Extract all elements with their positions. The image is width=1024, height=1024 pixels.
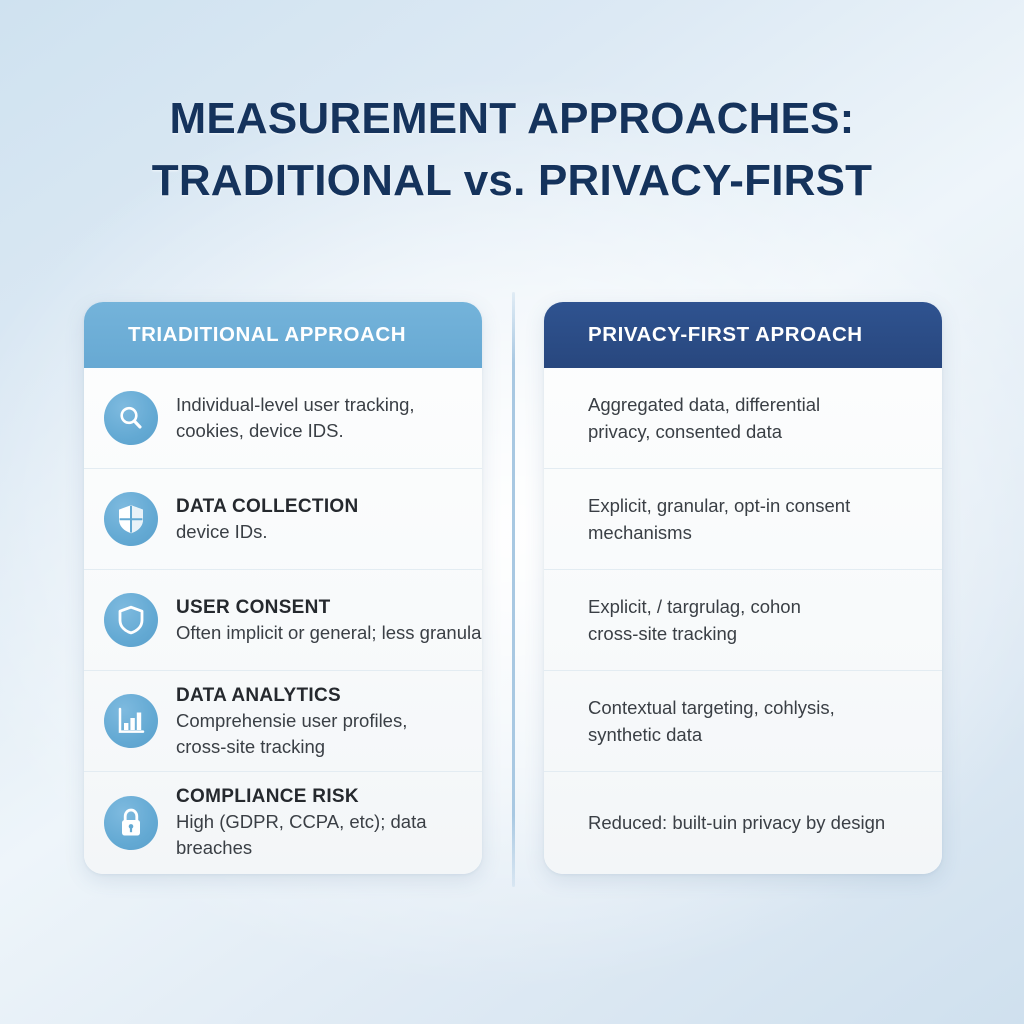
row-title: COMPLIANCE RISK [176, 784, 481, 809]
row-description: Explicit, granular, opt-in consentmechan… [588, 492, 924, 546]
row-description: Individual-level user tracking,cookies, … [176, 392, 482, 444]
table-row[interactable]: Explicit, / targrulag, cohoncross-site t… [544, 570, 942, 671]
row-text: Contextual targeting, cohlysis,synthetic… [588, 694, 924, 748]
page-title-line-2: TRADITIONAL vs. PRIVACY-FIRST [0, 150, 1024, 212]
row-description: Reduced: built-uin privacy by design [588, 809, 924, 836]
table-row[interactable]: Individual-level user tracking,cookies, … [84, 368, 482, 469]
table-row[interactable]: Reduced: built-uin privacy by design [544, 772, 942, 873]
search-icon [104, 391, 158, 445]
row-text: Explicit, granular, opt-in consentmechan… [588, 492, 924, 546]
row-text: DATA COLLECTION device IDs. [176, 494, 481, 545]
row-text: Individual-level user tracking,cookies, … [176, 392, 482, 444]
traditional-card-header: TRIADITIONAL APPROACH [84, 302, 482, 368]
center-divider [512, 292, 515, 887]
row-description: Contextual targeting, cohlysis,synthetic… [588, 694, 924, 748]
table-row[interactable]: Explicit, granular, opt-in consentmechan… [544, 469, 942, 570]
privacy-first-approach-card: PRIVACY-FIRST APROACH Aggregated data, d… [544, 302, 942, 874]
row-description: Aggregated data, differentialprivacy, co… [588, 391, 924, 445]
table-row[interactable]: Contextual targeting, cohlysis,synthetic… [544, 671, 942, 772]
row-text: Aggregated data, differentialprivacy, co… [588, 391, 924, 445]
traditional-approach-card: TRIADITIONAL APPROACH Individual-level u… [84, 302, 482, 874]
table-row[interactable]: DATA ANALYTICS Comprehensie user profile… [84, 671, 482, 772]
shield-quadrant-icon [104, 492, 158, 546]
row-title: DATA COLLECTION [176, 494, 481, 519]
row-text: COMPLIANCE RISK High (GDPR, CCPA, etc); … [176, 784, 481, 861]
row-title: DATA ANALYTICS [176, 683, 481, 708]
page-title: MEASUREMENT APPROACHES: TRADITIONAL vs. … [0, 88, 1024, 212]
privacy-first-card-header: PRIVACY-FIRST APROACH [544, 302, 942, 368]
lock-icon [104, 796, 158, 850]
page-title-privacy-first: PRIVACY-FIRST [526, 156, 873, 205]
row-text: DATA ANALYTICS Comprehensie user profile… [176, 683, 481, 760]
page-title-traditional: TRADITIONAL [152, 156, 464, 205]
row-text: USER CONSENT Often implicit or general; … [176, 595, 482, 646]
row-description: device IDs. [176, 519, 481, 545]
table-row[interactable]: COMPLIANCE RISK High (GDPR, CCPA, etc); … [84, 772, 482, 873]
privacy-first-rows: Aggregated data, differentialprivacy, co… [544, 368, 942, 873]
shield-outline-icon [104, 593, 158, 647]
row-description: High (GDPR, CCPA, etc); databreaches [176, 809, 481, 861]
table-row[interactable]: Aggregated data, differentialprivacy, co… [544, 368, 942, 469]
table-row[interactable]: USER CONSENT Often implicit or general; … [84, 570, 482, 671]
row-text: Explicit, / targrulag, cohoncross-site t… [588, 593, 924, 647]
row-description: Comprehensie user profiles,cross-site tr… [176, 708, 481, 760]
bar-chart-icon [104, 694, 158, 748]
page-title-vs: vs. [464, 156, 526, 205]
row-title: USER CONSENT [176, 595, 482, 620]
traditional-rows: Individual-level user tracking,cookies, … [84, 368, 482, 873]
table-row[interactable]: DATA COLLECTION device IDs. [84, 469, 482, 570]
traditional-card-header-label: TRIADITIONAL APPROACH [128, 323, 406, 347]
row-description: Explicit, / targrulag, cohoncross-site t… [588, 593, 924, 647]
row-description: Often implicit or general; less granular… [176, 620, 482, 646]
privacy-first-card-header-label: PRIVACY-FIRST APROACH [588, 323, 863, 347]
page-title-line-1: MEASUREMENT APPROACHES: [0, 88, 1024, 150]
row-text: Reduced: built-uin privacy by design [588, 809, 924, 836]
